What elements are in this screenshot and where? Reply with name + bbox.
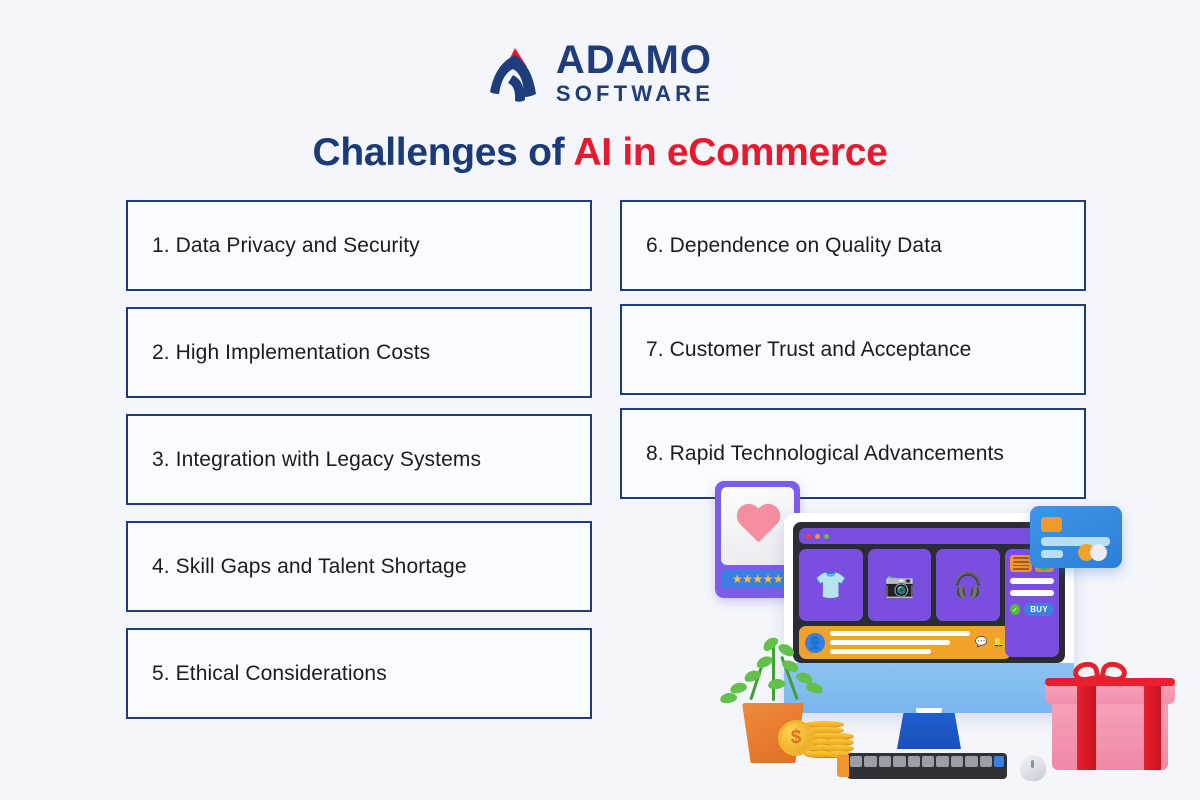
challenges-column-right: 6. Dependence on Quality Data 7. Custome… (620, 200, 1086, 512)
challenge-label: 2. High Implementation Costs (152, 341, 430, 365)
window-minimize-dot-icon (815, 534, 820, 539)
brand-name: ADAMO (556, 40, 714, 80)
headphones-icon: 🎧 (953, 571, 983, 600)
card-logo-circle-icon (1090, 544, 1107, 561)
brand-tagline: SOFTWARE (556, 83, 714, 105)
tshirt-icon: 👕 (815, 570, 847, 601)
chat-icon: 💬 (975, 637, 987, 648)
key-row (850, 756, 1004, 767)
challenge-label: 8. Rapid Technological Advancements (646, 442, 1004, 466)
challenge-item[interactable]: 2. High Implementation Costs (126, 307, 592, 398)
sidebar-line (1010, 578, 1054, 584)
challenge-label: 5. Ethical Considerations (152, 662, 387, 686)
keyboard[interactable] (847, 753, 1007, 779)
sidebar-line (1010, 590, 1054, 596)
challenge-item[interactable]: 3. Integration with Legacy Systems (126, 414, 592, 505)
plant-leaf (767, 678, 785, 690)
page-title-part1: Challenges of (312, 131, 573, 174)
text-lines (830, 631, 970, 654)
plant-leaf (761, 635, 780, 654)
heart-icon (735, 505, 781, 547)
challenge-label: 4. Skill Gaps and Talent Shortage (152, 555, 467, 579)
ecommerce-illustration: ★★★★★ 👕 📷 🎧 (690, 468, 1200, 800)
window-maximize-dot-icon (824, 534, 829, 539)
card-name-line (1041, 550, 1063, 558)
page-title: Challenges of AI in eCommerce (0, 131, 1200, 175)
product-card[interactable]: 🎧 (936, 549, 1000, 621)
gift-ribbon-vertical (1077, 678, 1096, 770)
challenges-column-left: 1. Data Privacy and Security 2. High Imp… (126, 200, 592, 735)
challenge-item[interactable]: 1. Data Privacy and Security (126, 200, 592, 291)
coupon-icon (1010, 555, 1032, 572)
keyboard-side-accent (837, 755, 849, 777)
account-search-bar[interactable]: 👤 💬 🔔 (799, 626, 1011, 659)
credit-card (1030, 506, 1122, 568)
monitor-screen: 👕 📷 🎧 % (793, 522, 1065, 663)
challenge-label: 7. Customer Trust and Acceptance (646, 338, 971, 362)
plant-leaf (777, 641, 797, 658)
dollar-coin-icon: $ (778, 720, 814, 756)
plant-leaf (805, 681, 824, 696)
page-title-part2: AI in eCommerce (573, 131, 887, 174)
shop-body: 👕 📷 🎧 % (799, 549, 1059, 621)
challenge-label: 6. Dependence on Quality Data (646, 234, 942, 258)
challenge-item[interactable]: 4. Skill Gaps and Talent Shortage (126, 521, 592, 612)
buy-row: ✓ BUY (1010, 603, 1054, 616)
buy-button[interactable]: BUY (1024, 603, 1054, 616)
computer-mouse[interactable] (1020, 755, 1046, 781)
product-card[interactable]: 👕 (799, 549, 863, 621)
plant-leaf (781, 658, 801, 674)
bell-icon: 🔔 (993, 637, 1005, 648)
coin-stack: $ (778, 696, 856, 758)
window-close-dot-icon (806, 534, 811, 539)
challenge-label: 1. Data Privacy and Security (152, 234, 420, 258)
gift-ribbon-horizontal (1045, 678, 1175, 686)
monitor-stand (897, 713, 961, 749)
product-grid: 👕 📷 🎧 (799, 549, 1000, 621)
gift-box (1045, 660, 1175, 770)
brand-logo: ADAMO SOFTWARE (0, 40, 1200, 105)
browser-title-bar (799, 528, 1059, 544)
adamo-arch-logo-icon (486, 42, 544, 104)
plant-leaf (719, 692, 737, 705)
check-icon: ✓ (1010, 604, 1020, 615)
product-card[interactable]: 📷 (868, 549, 932, 621)
card-chip-icon (1041, 517, 1062, 532)
camera-icon: 📷 (885, 571, 915, 600)
challenge-item[interactable]: 7. Customer Trust and Acceptance (620, 304, 1086, 395)
challenge-label: 3. Integration with Legacy Systems (152, 448, 481, 472)
gift-ribbon-vertical (1144, 678, 1161, 770)
challenge-item[interactable]: 6. Dependence on Quality Data (620, 200, 1086, 291)
challenge-item[interactable]: 5. Ethical Considerations (126, 628, 592, 719)
